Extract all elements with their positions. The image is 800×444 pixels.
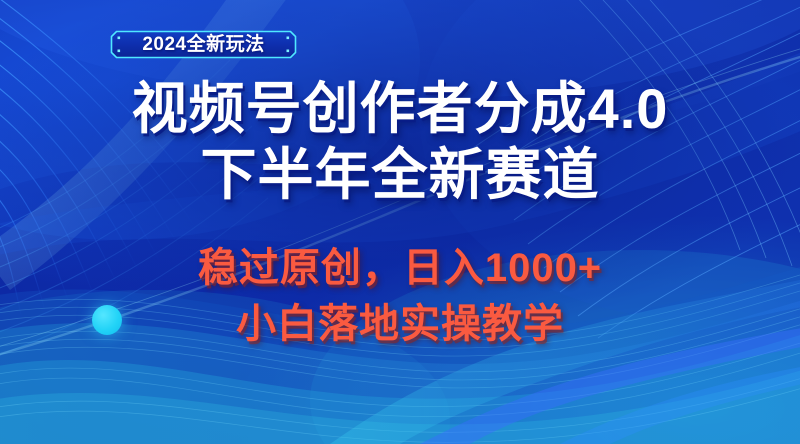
headline-line-2: 下半年全新赛道 bbox=[0, 142, 800, 208]
headline: 视频号创作者分成4.0 下半年全新赛道 bbox=[0, 76, 800, 208]
background-decoration bbox=[0, 0, 800, 444]
cyan-dot-icon bbox=[92, 305, 122, 335]
subheadline: 稳过原创，日入1000+ 小白落地实操教学 bbox=[0, 240, 800, 352]
headline-line-1: 视频号创作者分成4.0 bbox=[0, 76, 800, 142]
badge: 2024全新玩法 bbox=[110, 30, 297, 59]
badge-label: 2024全新玩法 bbox=[142, 35, 264, 54]
promo-poster: 2024全新玩法 视频号创作者分成4.0 下半年全新赛道 稳过原创，日入1000… bbox=[0, 0, 800, 444]
subheadline-line-1: 稳过原创，日入1000+ bbox=[0, 240, 800, 296]
